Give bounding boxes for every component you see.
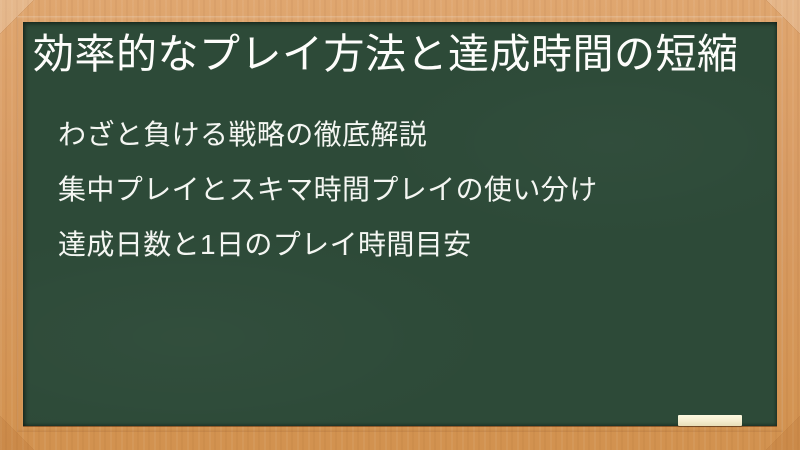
list-item: 集中プレイとスキマ時間プレイの使い分け	[58, 162, 758, 217]
board-content: 効率的なプレイ方法と達成時間の短縮 わざと負ける戦略の徹底解説 集中プレイとスキ…	[23, 22, 777, 426]
chalkboard-surface: 効率的なプレイ方法と達成時間の短縮 わざと負ける戦略の徹底解説 集中プレイとスキ…	[23, 22, 777, 426]
chalk-stick-icon	[678, 415, 742, 426]
bullet-list: わざと負ける戦略の徹底解説 集中プレイとスキマ時間プレイの使い分け 達成日数と1…	[58, 107, 758, 272]
slide-title: 効率的なプレイ方法と達成時間の短縮	[33, 30, 771, 78]
list-item: 達成日数と1日のプレイ時間目安	[58, 217, 758, 272]
chalkboard-slide: 効率的なプレイ方法と達成時間の短縮 わざと負ける戦略の徹底解説 集中プレイとスキ…	[0, 0, 800, 450]
list-item: わざと負ける戦略の徹底解説	[58, 107, 758, 162]
